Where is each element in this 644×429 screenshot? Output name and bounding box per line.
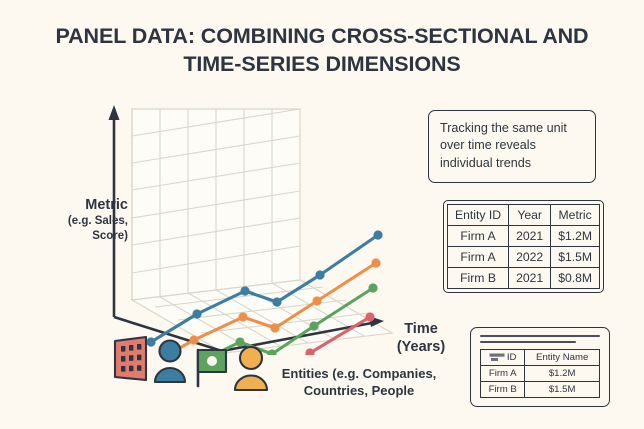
cell-year: 2021 [509,226,551,247]
cell-year: 2022 [509,247,551,268]
panel-data-table: Entity ID Year Metric Firm A 2021 $1.2M … [443,200,604,293]
mini-cell-id: Firm B [481,382,525,398]
callout-note: Tracking the same unit over time reveals… [428,110,596,183]
page-title: PANEL DATA: COMBINING CROSS-SECTIONAL AN… [40,22,604,79]
person-icon-blue [155,341,185,383]
sketch-line-2 [480,341,576,343]
sketch-line-1 [480,335,600,337]
time-axis-label: Time (Years) [378,320,464,356]
person-icon-orange [235,347,267,390]
flag-icon-green [198,350,226,386]
mini-entity-card: ID Entity Name Firm A $1.2M Firm B $1.5M [470,327,610,407]
entity-id-scribble-icon [489,353,505,362]
mini-cell-name: $1.5M [525,382,600,398]
cell-year: 2021 [509,268,551,289]
infographic-canvas: PANEL DATA: COMBINING CROSS-SECTIONAL AN… [0,0,644,429]
table-header-row: Entity ID Year Metric [448,205,600,226]
y-axis-label-line3: Score) [36,229,128,243]
cell-entity-id: Firm A [448,247,509,268]
y-axis-label-line1: Metric [36,196,128,214]
mini-table: ID Entity Name Firm A $1.2M Firm B $1.5M [480,349,600,398]
table-row: Firm A 2021 $1.2M [448,226,600,247]
chart-back-wall-grid [132,109,300,300]
col-header-entity-id: Entity ID [448,205,509,226]
mini-table-row: Firm A $1.2M [481,366,600,382]
entities-axis-label: Entities (e.g. Companies, Countries, Peo… [264,366,454,400]
y-axis-label: Metric (e.g. Sales, Score) [36,196,128,243]
entity-icons-svg [110,332,280,394]
cell-metric: $1.2M [551,226,600,247]
mini-col-header-id-label: ID [507,352,517,363]
entities-axis-label-line2: Countries, People [264,383,454,400]
cell-entity-id: Firm B [448,268,509,289]
mini-table-header-row: ID Entity Name [481,350,600,366]
mini-col-header-id: ID [481,350,525,366]
data-table: Entity ID Year Metric Firm A 2021 $1.2M … [447,204,600,289]
entities-axis-label-line1: Entities (e.g. Companies, [264,366,454,383]
cell-entity-id: Firm A [448,226,509,247]
mini-col-header-entity-name: Entity Name [525,350,600,366]
time-axis-label-line2: (Years) [378,338,464,356]
mini-table-row: Firm B $1.5M [481,382,600,398]
col-header-year: Year [509,205,551,226]
table-row: Firm A 2022 $1.5M [448,247,600,268]
time-axis-label-line1: Time [378,320,464,338]
col-header-metric: Metric [551,205,600,226]
table-row: Firm B 2021 $0.8M [448,268,600,289]
cell-metric: $1.5M [551,247,600,268]
callout-text: Tracking the same unit over time reveals… [440,121,567,170]
cell-metric: $0.8M [551,268,600,289]
building-icon [115,337,146,380]
y-axis-label-line2: (e.g. Sales, [36,214,128,228]
entity-icons-row [110,332,280,394]
mini-cell-id: Firm A [481,366,525,382]
mini-cell-name: $1.2M [525,366,600,382]
